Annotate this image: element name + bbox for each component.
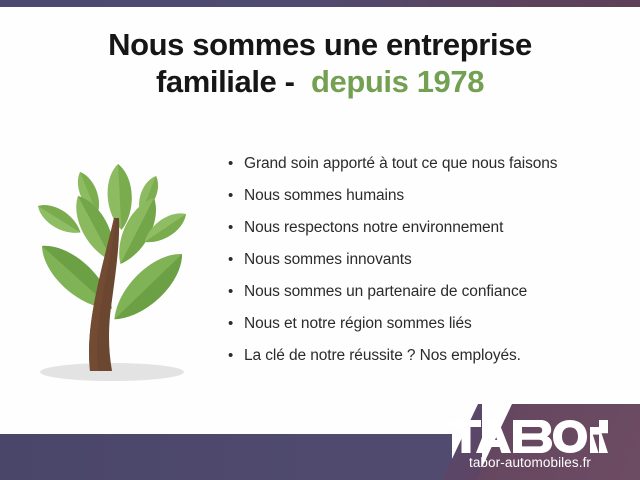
top-accent-bar [0, 0, 640, 7]
list-item: • Nous sommes humains [228, 180, 628, 212]
list-item: • Nous sommes un partenaire de confiance [228, 276, 628, 308]
list-item-label: La clé de notre réussite ? Nos employés. [244, 340, 521, 372]
tabor-wordmark-icon [442, 420, 618, 454]
bullet-icon: • [228, 340, 244, 372]
bullet-icon: • [228, 244, 244, 276]
list-item: • Nous sommes innovants [228, 244, 628, 276]
brand-logo[interactable]: tabor-automobiles.fr [442, 420, 618, 470]
list-item: • Nous et notre région sommes liés [228, 308, 628, 340]
list-item-label: Nous sommes innovants [244, 244, 412, 276]
presentation-slide: Nous sommes une entreprise familiale - d… [0, 0, 640, 480]
list-item-label: Nous sommes humains [244, 180, 404, 212]
title-line-1: Nous sommes une entreprise [0, 26, 640, 63]
title-line-2: familiale - depuis 1978 [0, 63, 640, 100]
list-item-label: Nous respectons notre environnement [244, 212, 503, 244]
page-title: Nous sommes une entreprise familiale - d… [0, 26, 640, 100]
list-item-label: Grand soin apporté à tout ce que nous fa… [244, 148, 557, 180]
tree-illustration [8, 148, 220, 392]
list-item: • La clé de notre réussite ? Nos employé… [228, 340, 628, 372]
bullet-icon: • [228, 308, 244, 340]
list-item-label: Nous sommes un partenaire de confiance [244, 276, 527, 308]
benefits-list: • Grand soin apporté à tout ce que nous … [228, 148, 628, 372]
list-item: • Grand soin apporté à tout ce que nous … [228, 148, 628, 180]
title-line-2-plain: familiale - [156, 64, 295, 99]
logo-website-url: tabor-automobiles.fr [442, 455, 618, 470]
bullet-icon: • [228, 212, 244, 244]
tree-shadow [40, 363, 184, 381]
bottom-bar-left [0, 434, 452, 480]
bullet-icon: • [228, 276, 244, 308]
list-item-label: Nous et notre région sommes liés [244, 308, 472, 340]
title-accent-since-1978: depuis 1978 [311, 64, 484, 99]
list-item: • Nous respectons notre environnement [228, 212, 628, 244]
bullet-icon: • [228, 148, 244, 180]
bullet-icon: • [228, 180, 244, 212]
